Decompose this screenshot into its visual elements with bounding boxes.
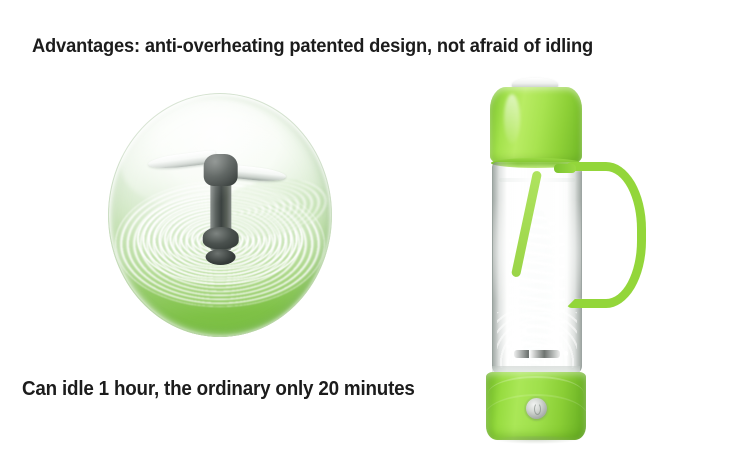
- carry-strap-loop: [566, 162, 646, 308]
- power-icon: [534, 403, 541, 415]
- headline-text: Advantages: anti-overheating patented de…: [32, 34, 593, 58]
- water-bubbles: [497, 312, 577, 368]
- blending-blade: [514, 350, 560, 358]
- advertisement-canvas: Advantages: anti-overheating patented de…: [0, 0, 750, 470]
- caption-text: Can idle 1 hour, the ordinary only 20 mi…: [22, 377, 415, 401]
- portable-blender-bottle-image: [468, 78, 638, 442]
- blender-blade-closeup-image: [108, 93, 332, 337]
- strap-anchor: [554, 164, 576, 173]
- lid-gloss-highlight: [504, 94, 520, 144]
- base-drop-shadow: [494, 436, 578, 444]
- glass-dome-rim: [108, 93, 332, 337]
